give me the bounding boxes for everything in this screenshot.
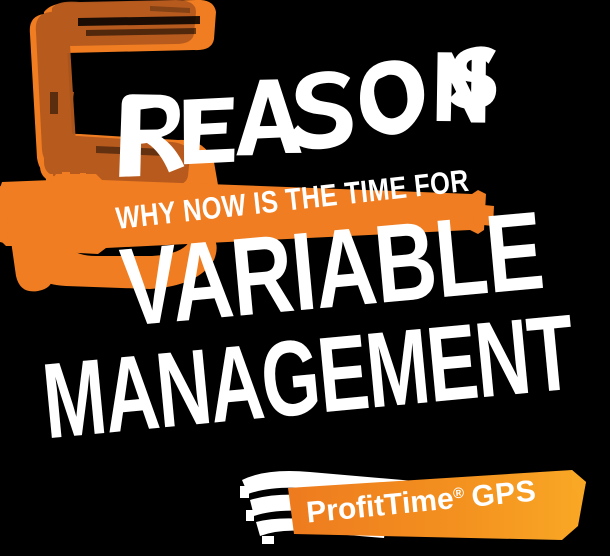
product-suffix: GPS: [470, 474, 538, 513]
registered-mark: ®: [452, 485, 465, 503]
management-text: MANAGEMENT: [38, 303, 495, 459]
poster-canvas: WHY NOW IS THE TIME FOR VARIABLE MANAGEM…: [0, 0, 610, 556]
headline-line-management: MANAGEMENT: [39, 300, 607, 464]
